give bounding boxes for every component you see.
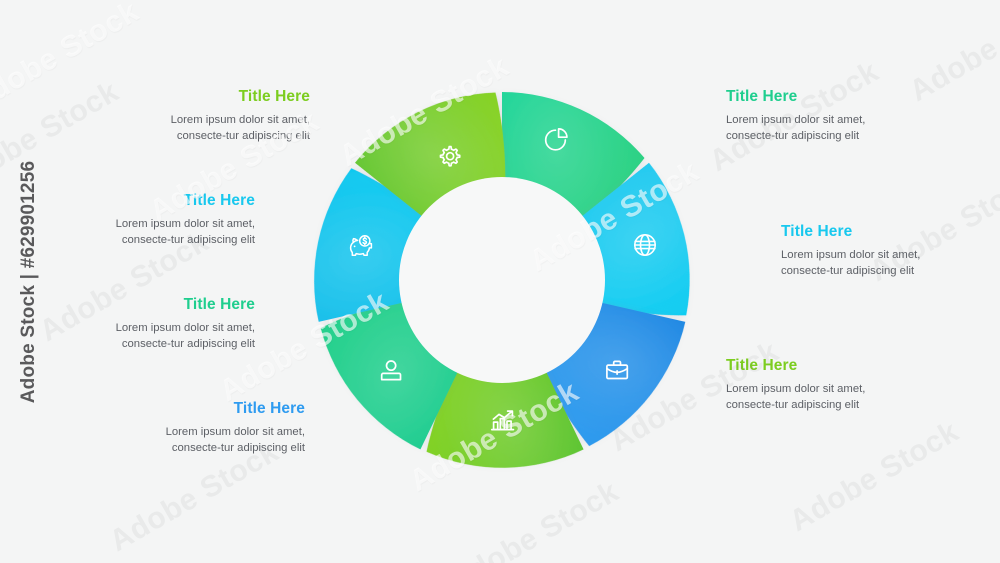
adobe-stock-id-watermark: Adobe Stock | #629901256 — [6, 0, 52, 563]
watermark-tile: Adobe Stock — [784, 415, 965, 539]
info-block-right-1[interactable]: Title Here Lorem ipsum dolor sit amet, c… — [726, 88, 911, 145]
block-title: Title Here — [70, 192, 255, 209]
block-title: Title Here — [726, 357, 911, 374]
block-description: Lorem ipsum dolor sit amet, consecte-tur… — [70, 216, 255, 249]
block-description: Lorem ipsum dolor sit amet, consecte-tur… — [70, 320, 255, 353]
info-block-left-1[interactable]: Title Here Lorem ipsum dolor sit amet, c… — [125, 88, 310, 145]
watermark-tile: Adobe Stock — [904, 0, 1000, 109]
block-description: Lorem ipsum dolor sit amet, consecte-tur… — [726, 112, 911, 145]
infographic-canvas: Title Here Lorem ipsum dolor sit amet, c… — [0, 0, 1000, 563]
block-title: Title Here — [781, 223, 966, 240]
diagram-svg — [282, 60, 722, 500]
block-title: Title Here — [125, 88, 310, 105]
info-block-left-2[interactable]: Title Here Lorem ipsum dolor sit amet, c… — [70, 192, 255, 249]
block-title: Title Here — [70, 296, 255, 313]
info-block-right-2[interactable]: Title Here Lorem ipsum dolor sit amet, c… — [781, 223, 966, 280]
block-description: Lorem ipsum dolor sit amet, consecte-tur… — [125, 112, 310, 145]
block-description: Lorem ipsum dolor sit amet, consecte-tur… — [726, 381, 911, 414]
block-title: Title Here — [726, 88, 911, 105]
info-block-left-3[interactable]: Title Here Lorem ipsum dolor sit amet, c… — [70, 296, 255, 353]
diagram-center-hole — [399, 177, 605, 383]
block-description: Lorem ipsum dolor sit amet, consecte-tur… — [781, 247, 966, 280]
block-description: Lorem ipsum dolor sit amet, consecte-tur… — [120, 424, 305, 457]
block-title: Title Here — [120, 400, 305, 417]
info-block-left-4[interactable]: Title Here Lorem ipsum dolor sit amet, c… — [120, 400, 305, 457]
info-block-right-3[interactable]: Title Here Lorem ipsum dolor sit amet, c… — [726, 357, 911, 414]
watermark-id-text: Adobe Stock | #629901256 — [18, 160, 40, 402]
circular-infographic-diagram — [282, 60, 722, 500]
